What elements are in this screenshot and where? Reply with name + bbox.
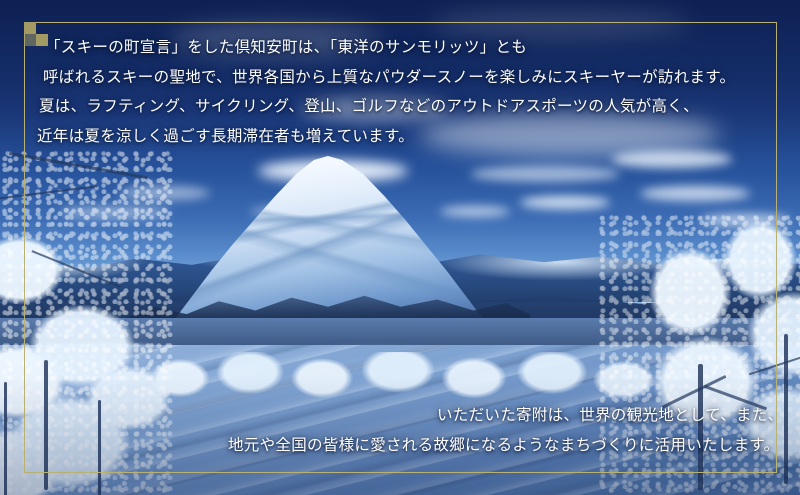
- corner-square: [24, 34, 36, 46]
- hero-banner: 「スキーの町宣言」をした倶知安町は、「東洋のサンモリッツ」とも 呼ばれるスキーの…: [0, 0, 800, 495]
- intro-line: 近年は夏を涼しく過ごす長期滞在者も増えています。: [37, 129, 735, 145]
- intro-line: 「スキーの町宣言」をした倶知安町は、「東洋のサンモリッツ」とも: [45, 40, 735, 56]
- donation-message: いただいた寄附は、世界の観光地として、また、 地元や全国の皆様に愛される故郷にな…: [228, 408, 783, 467]
- intro-line: 夏は、ラフティング、サイクリング、登山、ゴルフなどのアウトドアスポーツの人気が高…: [39, 99, 735, 115]
- donation-line: 地元や全国の皆様に愛される故郷になるようなまちづくりに活用いたします。: [228, 438, 783, 454]
- cloud-icon: [520, 196, 610, 209]
- donation-line: いただいた寄附は、世界の観光地として、また、: [437, 408, 783, 424]
- cloud-icon: [640, 186, 750, 201]
- intro-line: 呼ばれるスキーの聖地で、世界各国から上質なパウダースノーを楽しみにスキーヤーが訪…: [43, 70, 735, 86]
- intro-paragraph: 「スキーの町宣言」をした倶知安町は、「東洋のサンモリッツ」とも 呼ばれるスキーの…: [45, 40, 735, 158]
- corner-square: [24, 22, 36, 34]
